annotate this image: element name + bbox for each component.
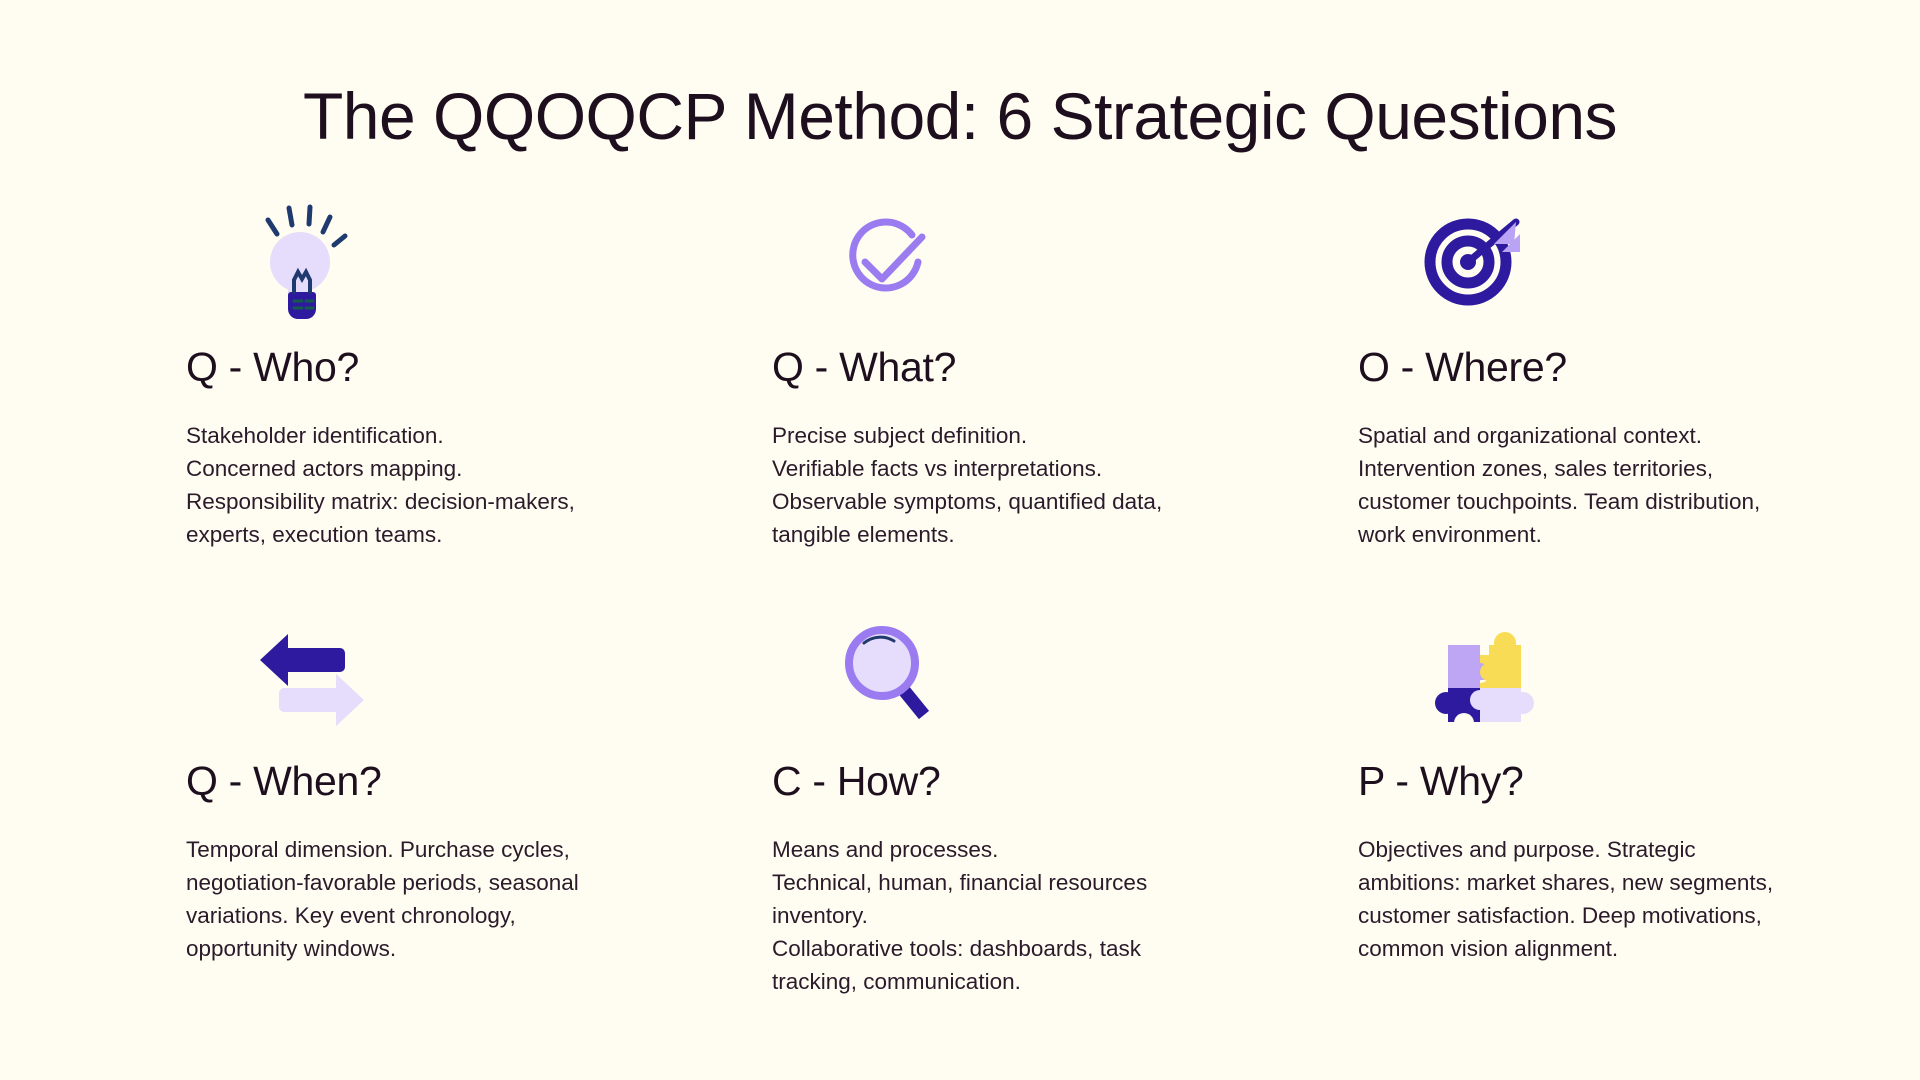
card-body: Precise subject definition. Verifiable f… [772, 419, 1192, 551]
card-body: Temporal dimension. Purchase cycles, neg… [186, 833, 606, 965]
magnifier-icon [772, 604, 1292, 734]
card-title: C - How? [772, 758, 1292, 805]
arrows-exchange-icon [186, 604, 706, 734]
card-title: Q - What? [772, 344, 1292, 391]
card-why: P - Why? Objectives and purpose. Strateg… [1358, 604, 1878, 1004]
puzzle-icon [1358, 604, 1878, 734]
target-icon [1358, 190, 1878, 320]
card-title: O - Where? [1358, 344, 1878, 391]
card-body: Spatial and organizational context. Inte… [1358, 419, 1778, 551]
card-how: C - How? Means and processes. Technical,… [772, 604, 1292, 1004]
card-body: Means and processes. Technical, human, f… [772, 833, 1192, 998]
card-body: Objectives and purpose. Strategic ambiti… [1358, 833, 1778, 965]
card-where: O - Where? Spatial and organizational co… [1358, 190, 1878, 590]
card-title: P - Why? [1358, 758, 1878, 805]
card-title: Q - When? [186, 758, 706, 805]
check-circle-icon [772, 190, 1292, 320]
cards-grid: Q - Who? Stakeholder identification. Con… [186, 190, 1776, 1004]
card-body: Stakeholder identification. Concerned ac… [186, 419, 606, 551]
card-what: Q - What? Precise subject definition. Ve… [772, 190, 1292, 590]
lightbulb-icon [186, 190, 706, 320]
card-who: Q - Who? Stakeholder identification. Con… [186, 190, 706, 590]
card-when: Q - When? Temporal dimension. Purchase c… [186, 604, 706, 1004]
infographic-page: The QQOQCP Method: 6 Strategic Questions [0, 0, 1920, 1080]
page-title: The QQOQCP Method: 6 Strategic Questions [0, 78, 1920, 154]
card-title: Q - Who? [186, 344, 706, 391]
